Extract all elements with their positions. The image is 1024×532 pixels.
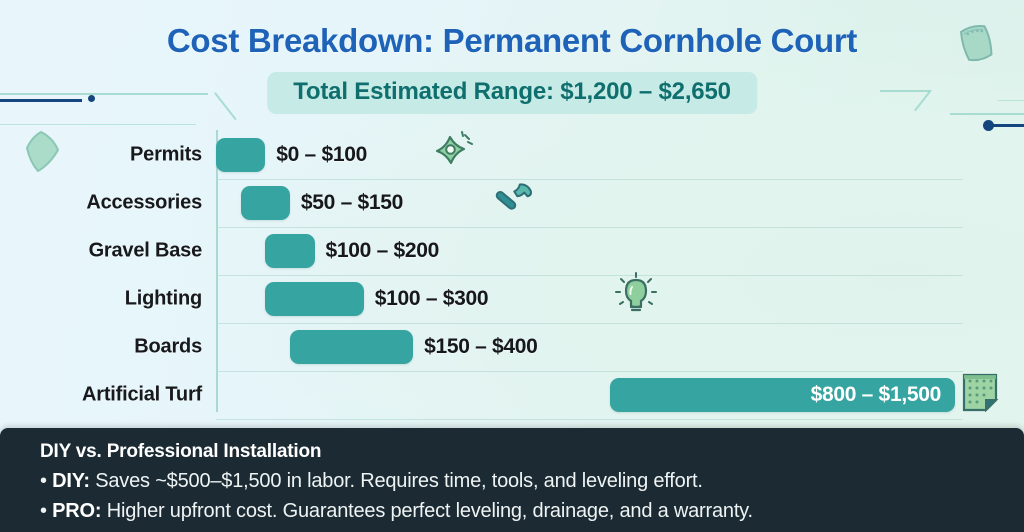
category-label: Lighting (0, 288, 202, 311)
infographic-canvas: Cost Breakdown: Permanent Cornhole Court… (0, 0, 1024, 532)
range-value-label: $100 – $200 (326, 239, 439, 263)
footer-bullet-diy: • DIY: Saves ~$500–$1,500 in labor. Requ… (40, 470, 703, 493)
bullet-tag-pro: PRO: (52, 500, 101, 522)
page-title: Cost Breakdown: Permanent Cornhole Court (0, 22, 1024, 60)
bullet-marker-diy: • (40, 470, 47, 492)
bullet-text-pro: Higher upfront cost. Guarantees perfect … (101, 500, 752, 522)
range-bar (290, 330, 413, 364)
bullet-text-diy: Saves ~$500–$1,500 in labor. Requires ti… (90, 470, 703, 492)
bullet-marker-pro: • (40, 500, 47, 522)
bullet-tag-diy: DIY: (52, 470, 90, 492)
chart-row: Boards$150 – $400 (0, 323, 1024, 371)
chart-row: Permits$0 – $100 (0, 131, 1024, 179)
category-label: Artificial Turf (0, 384, 202, 407)
chart-row: Lighting$100 – $300 (0, 275, 1024, 323)
range-bar (241, 186, 290, 220)
hammer-icon (485, 176, 537, 228)
range-value-label: $0 – $100 (276, 143, 367, 167)
footer-panel: DIY vs. Professional Installation • DIY:… (0, 428, 1024, 532)
range-value-label: $100 – $300 (375, 287, 488, 311)
category-label: Permits (0, 144, 202, 167)
range-value-label: $150 – $400 (424, 335, 537, 359)
range-bar (216, 138, 265, 172)
total-range-badge: Total Estimated Range: $1,200 – $2,650 (267, 72, 757, 114)
turf-mat-icon (961, 372, 1001, 414)
chart-row: Gravel Base$100 – $200 (0, 227, 1024, 275)
gridline (216, 419, 963, 420)
category-label: Accessories (0, 192, 202, 215)
lightbulb-icon (610, 270, 662, 322)
navy-accent-line-left (0, 99, 82, 102)
range-bar (265, 282, 364, 316)
footer-title: DIY vs. Professional Installation (40, 441, 321, 463)
navy-dot-left (88, 95, 95, 102)
category-label: Gravel Base (0, 240, 202, 263)
footer-bullet-pro: • PRO: Higher upfront cost. Guarantees p… (40, 500, 753, 523)
range-value-label: $50 – $150 (301, 191, 403, 215)
range-bar (265, 234, 314, 268)
cost-bar-chart: Permits$0 – $100Accessories$50 – $150Gra… (0, 126, 1024, 416)
category-label: Boards (0, 336, 202, 359)
permit-tag-icon (428, 129, 476, 177)
chart-row: Artificial Turf$800 – $1,500 (0, 371, 1024, 419)
range-value-label: $800 – $1,500 (811, 383, 941, 407)
